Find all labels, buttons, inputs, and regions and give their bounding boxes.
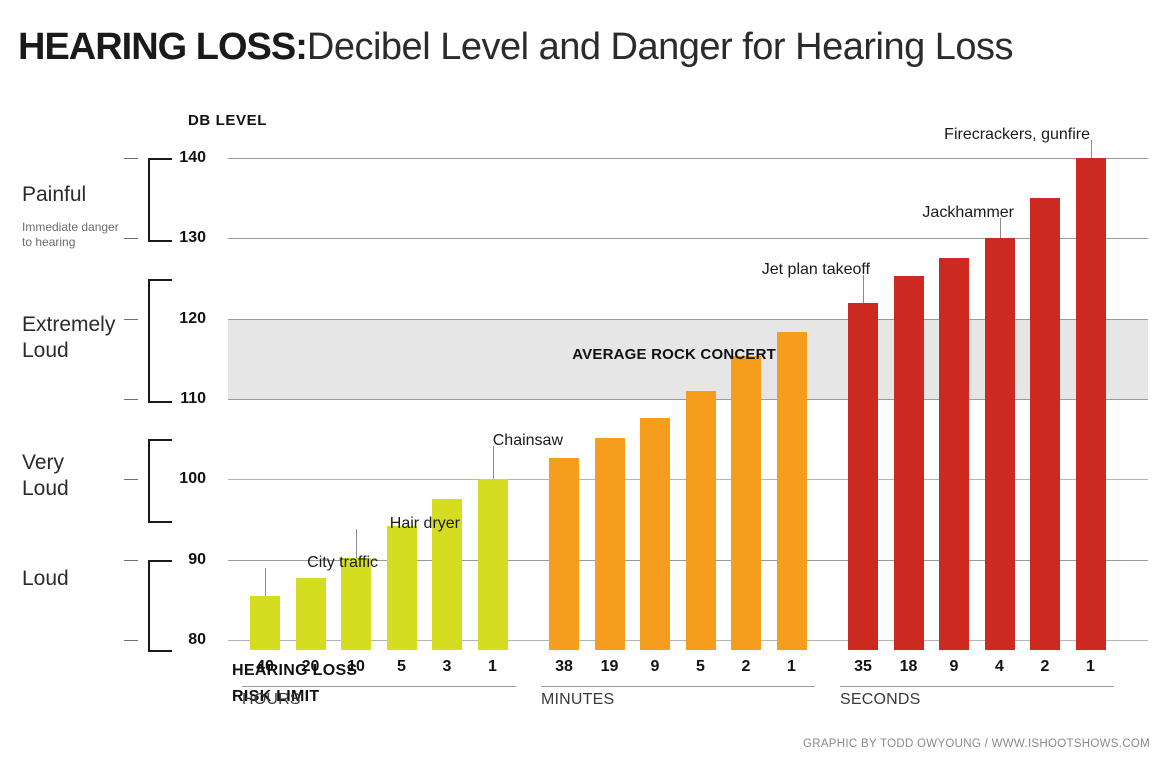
annotation-label: Hair dryer	[228, 515, 460, 533]
page-title: HEARING LOSS:Decibel Level and Danger fo…	[18, 24, 1013, 70]
bar	[296, 578, 326, 650]
title-light: Decibel Level and Danger for Hearing Los…	[307, 26, 1013, 68]
severity-bracket-extremely-loud	[148, 279, 172, 404]
x-tick-label: 19	[590, 658, 630, 676]
callout-leader-vertical	[265, 568, 266, 596]
callout-leader-vertical	[493, 446, 494, 479]
callout-leader-vertical	[863, 275, 864, 303]
x-tick-label: 18	[889, 658, 929, 676]
y-tick-label-90: 90	[146, 551, 206, 569]
x-tick-label: 38	[544, 658, 584, 676]
x-tick-label: 4	[980, 658, 1020, 676]
bar	[640, 418, 670, 650]
x-tick-label: 9	[635, 658, 675, 676]
x-tick-label: 40	[245, 658, 285, 676]
x-tick-label: 1	[772, 658, 812, 676]
x-tick-label: 5	[382, 658, 422, 676]
title-strong: HEARING LOSS:	[18, 26, 307, 68]
annotation-label: Jackhammer	[228, 204, 1014, 222]
x-tick-label: 35	[843, 658, 883, 676]
y-tick-dash	[124, 479, 138, 480]
severity-sublabel-painful: Immediate danger to hearing	[22, 220, 119, 250]
y-tick-dash	[124, 560, 138, 561]
unit-group-label: MINUTES	[541, 691, 614, 709]
bar	[686, 391, 716, 650]
severity-label-painful: Painful	[22, 182, 86, 208]
bar	[777, 332, 807, 650]
credit-line: GRAPHIC BY TODD OWYOUNG / WWW.ISHOOTSHOW…	[803, 738, 1150, 750]
callout-leader-vertical	[356, 529, 357, 558]
bar	[549, 458, 579, 650]
annotation-label: AVERAGE ROCK CONCERT	[228, 346, 776, 363]
unit-group-label: HOURS	[242, 691, 301, 709]
bar	[848, 303, 878, 650]
bar	[939, 258, 969, 650]
y-tick-dash	[124, 158, 138, 159]
bar	[1030, 198, 1060, 650]
severity-label-very-loud: Very Loud	[22, 450, 69, 502]
chart-plot-area: City trafficHair dryerChainsawAVERAGE RO…	[228, 158, 1148, 640]
y-tick-dash	[124, 238, 138, 239]
y-tick-label-100: 100	[146, 470, 206, 488]
severity-label-extremely-loud: Extremely Loud	[22, 312, 115, 364]
unit-group-label: SECONDS	[840, 691, 921, 709]
x-tick-label: 5	[681, 658, 721, 676]
y-tick-label-110: 110	[146, 390, 206, 408]
bar	[478, 479, 508, 650]
infographic-page: HEARING LOSS:Decibel Level and Danger fo…	[0, 0, 1170, 775]
annotation-label: Chainsaw	[228, 432, 563, 450]
annotation-label: Firecrackers, gunfire	[228, 126, 1090, 144]
x-tick-label: 9	[934, 658, 974, 676]
y-tick-label-120: 120	[146, 310, 206, 328]
x-tick-label: 1	[473, 658, 513, 676]
x-tick-label: 20	[291, 658, 331, 676]
bar	[250, 596, 280, 650]
x-tick-label: 2	[1025, 658, 1065, 676]
callout-leader-vertical	[1091, 140, 1092, 158]
unit-group-rule	[541, 686, 815, 687]
y-tick-label-80: 80	[146, 631, 206, 649]
unit-group-rule	[840, 686, 1114, 687]
y-tick-label-130: 130	[146, 229, 206, 247]
y-tick-label-140: 140	[146, 149, 206, 167]
x-tick-label: 3	[427, 658, 467, 676]
y-tick-dash	[124, 399, 138, 400]
bar	[985, 238, 1015, 650]
gridline-140	[228, 158, 1148, 159]
bar	[731, 356, 761, 650]
bar	[595, 438, 625, 650]
y-tick-dash	[124, 319, 138, 320]
y-tick-dash	[124, 640, 138, 641]
unit-group-rule	[242, 686, 516, 687]
bar	[1076, 158, 1106, 650]
x-tick-label: 1	[1071, 658, 1111, 676]
bar	[387, 526, 417, 650]
x-tick-label: 2	[726, 658, 766, 676]
x-tick-label: 10	[336, 658, 376, 676]
severity-label-loud: Loud	[22, 566, 69, 592]
bar	[894, 276, 924, 650]
annotation-label: Jet plan takeoff	[228, 261, 870, 279]
